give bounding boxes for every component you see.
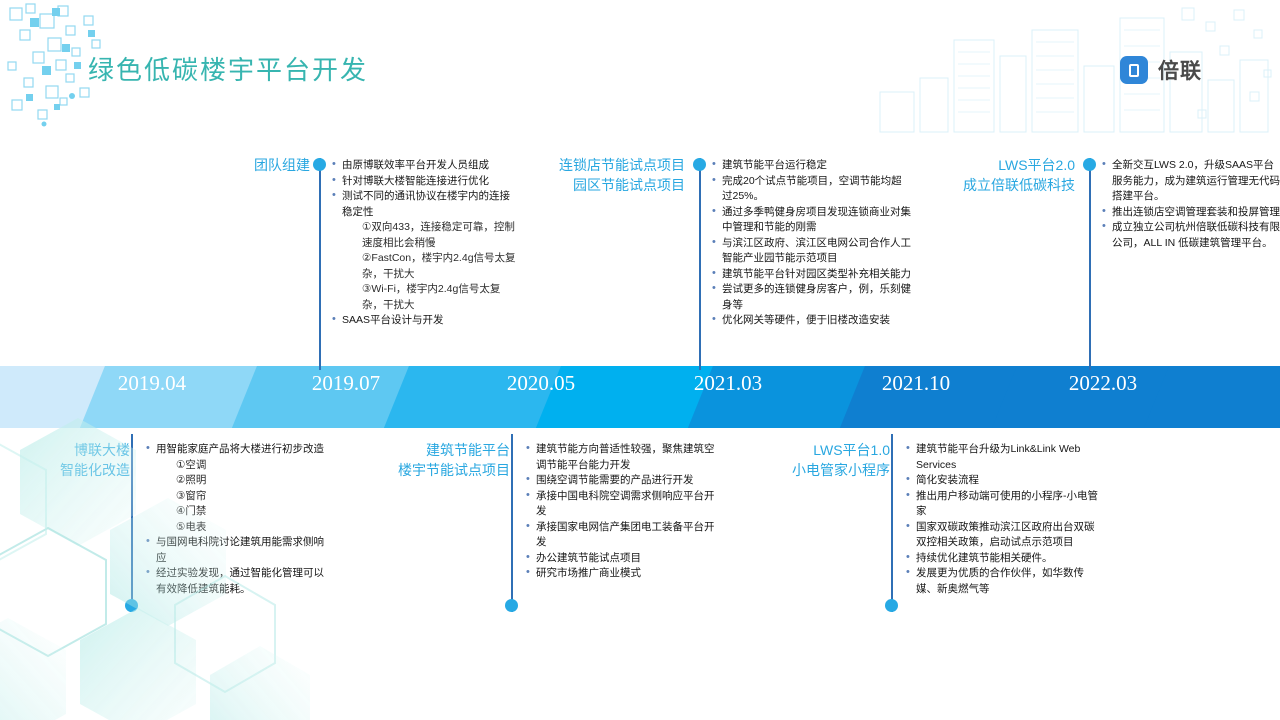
milestone-body: 建筑节能方向普适性较强，聚焦建筑空调节能平台能力开发围绕空调节能需要的产品进行开… <box>525 442 715 582</box>
milestone-sub-item: ③窗帘 <box>156 489 325 505</box>
milestone-bullet: 建筑节能方向普适性较强，聚焦建筑空调节能平台能力开发 <box>525 442 715 473</box>
milestone-bullet: 完成20个试点节能项目，空调节能均超过25%。 <box>711 174 911 205</box>
milestone-bullet: 国家双碳政策推动滨江区政府出台双碳双控相关政策，启动试点示范项目 <box>905 520 1100 551</box>
milestone-bullet: 承接中国电科院空调需求侧响应平台开发 <box>525 489 715 520</box>
milestone-bullet: 成立独立公司杭州倍联低碳科技有限公司，ALL IN 低碳建筑管理平台。 <box>1101 220 1280 251</box>
milestone-heading: LWS平台1.0小电管家小程序 <box>745 440 890 480</box>
milestone-bullet: 简化安装流程 <box>905 473 1100 489</box>
timeline-date-2020.05: 2020.05 <box>497 370 585 396</box>
milestone-heading-line: LWS平台2.0 <box>905 155 1075 175</box>
brand-name: 倍联 <box>1158 55 1202 85</box>
milestone-bullet: 推出用户移动端可使用的小程序-小电管家 <box>905 489 1100 520</box>
milestone-heading: 建筑节能平台楼宇节能试点项目 <box>350 440 510 480</box>
milestone-connector-line <box>699 158 701 370</box>
milestone-heading-line: 连锁店节能试点项目 <box>470 155 685 175</box>
milestone-connector <box>505 434 518 612</box>
milestone-bullet: 全新交互LWS 2.0，升级SAAS平台服务能力，成为建筑运行管理无代码搭建平台… <box>1101 158 1280 205</box>
milestone-bullet: 办公建筑节能试点项目 <box>525 551 715 567</box>
milestone-dot <box>505 599 518 612</box>
milestone-heading: 团队组建 <box>150 155 310 175</box>
milestone-heading-line: 小电管家小程序 <box>745 460 890 480</box>
milestone-connector-line <box>891 434 893 612</box>
milestone-dot <box>125 599 138 612</box>
milestone-heading: 连锁店节能试点项目园区节能试点项目 <box>470 155 685 195</box>
timeline-date-labels: 2019.042019.072020.052021.032021.102022.… <box>0 366 1280 428</box>
milestone-sub-item: ①双向433，连接稳定可靠，控制速度相比会稍慢 <box>342 220 516 251</box>
timeline-date-2021.03: 2021.03 <box>684 370 772 396</box>
milestone-connector-line <box>319 158 321 370</box>
milestone-bullet: 测试不同的通讯协议在楼宇内的连接稳定性①双向433，连接稳定可靠，控制速度相比会… <box>331 189 516 313</box>
milestone-connector <box>125 434 138 612</box>
milestone-connector <box>313 158 326 370</box>
milestone-sub-item: ①空调 <box>156 458 325 474</box>
milestone-dot <box>693 158 706 171</box>
milestone-sub-item: ④门禁 <box>156 504 325 520</box>
brand-logo: 倍联 <box>1120 55 1202 85</box>
milestone-bullet: 尝试更多的连锁健身房客户，例，乐刻健身等 <box>711 282 911 313</box>
milestone-connector <box>1083 158 1096 370</box>
milestone-heading: 博联大楼智能化改造 <box>0 440 130 480</box>
timeline-date-2022.03: 2022.03 <box>1059 370 1147 396</box>
milestone-list: 建筑节能平台升级为Link&Link Web Services简化安装流程推出用… <box>905 442 1100 597</box>
milestone-bullet: 推出连锁店空调管理套装和投屏管理 <box>1101 205 1280 221</box>
milestone-bullet: 经过实验发现，通过智能化管理可以有效降低建筑能耗。 <box>145 566 325 597</box>
milestone-bullet: 承接国家电网信产集团电工装备平台开发 <box>525 520 715 551</box>
milestone-bullet: 发展更为优质的合作伙伴，如华数传媒、新奥燃气等 <box>905 566 1100 597</box>
milestone-bullet: SAAS平台设计与开发 <box>331 313 516 329</box>
milestone-heading-line: 楼宇节能试点项目 <box>350 460 510 480</box>
milestone-bullet: 用智能家庭产品将大楼进行初步改造①空调②照明③窗帘④门禁⑤电表 <box>145 442 325 535</box>
milestone-heading-line: 成立倍联低碳科技 <box>905 175 1075 195</box>
milestone-body: 用智能家庭产品将大楼进行初步改造①空调②照明③窗帘④门禁⑤电表与国网电科院讨论建… <box>145 442 325 597</box>
milestone-bullet: 建筑节能平台针对园区类型补充相关能力 <box>711 267 911 283</box>
milestone-list: 建筑节能方向普适性较强，聚焦建筑空调节能平台能力开发围绕空调节能需要的产品进行开… <box>525 442 715 582</box>
milestone-heading-line: 园区节能试点项目 <box>470 175 685 195</box>
milestone-bullet: 研究市场推广商业模式 <box>525 566 715 582</box>
milestone-bullet: 围绕空调节能需要的产品进行开发 <box>525 473 715 489</box>
milestone-dot <box>885 599 898 612</box>
slide-header: 绿色低碳楼宇平台开发 倍联 <box>0 0 1280 130</box>
milestone-body: 建筑节能平台升级为Link&Link Web Services简化安装流程推出用… <box>905 442 1100 597</box>
milestone-heading: LWS平台2.0成立倍联低碳科技 <box>905 155 1075 195</box>
milestone-sub-item: ③Wi-Fi，楼宇内2.4g信号太复杂，干扰大 <box>342 282 516 313</box>
milestone-sub-item: ⑤电表 <box>156 520 325 536</box>
milestone-bullet: 与国网电科院讨论建筑用能需求侧响应 <box>145 535 325 566</box>
milestone-connector-line <box>1089 158 1091 370</box>
milestone-bullet: 与滨江区政府、滨江区电网公司合作人工智能产业园节能示范项目 <box>711 236 911 267</box>
milestone-heading-line: 博联大楼 <box>0 440 130 460</box>
milestone-dot <box>1083 158 1096 171</box>
milestone-heading-line: 团队组建 <box>150 155 310 175</box>
milestone-bullet: 优化网关等硬件，便于旧楼改造安装 <box>711 313 911 329</box>
page-title: 绿色低碳楼宇平台开发 <box>88 50 368 87</box>
milestone-list: 用智能家庭产品将大楼进行初步改造①空调②照明③窗帘④门禁⑤电表与国网电科院讨论建… <box>145 442 325 597</box>
milestone-bullet: 建筑节能平台升级为Link&Link Web Services <box>905 442 1100 473</box>
milestone-connector <box>693 158 706 370</box>
timeline-date-2021.10: 2021.10 <box>872 370 960 396</box>
milestone-dot <box>313 158 326 171</box>
milestone-bullet: 建筑节能平台运行稳定 <box>711 158 911 174</box>
milestone-body: 全新交互LWS 2.0，升级SAAS平台服务能力，成为建筑运行管理无代码搭建平台… <box>1101 158 1280 251</box>
milestone-list: 建筑节能平台运行稳定完成20个试点节能项目，空调节能均超过25%。通过多季鸭健身… <box>711 158 911 329</box>
milestone-body: 建筑节能平台运行稳定完成20个试点节能项目，空调节能均超过25%。通过多季鸭健身… <box>711 158 911 329</box>
timeline-date-2019.07: 2019.07 <box>302 370 390 396</box>
milestone-heading-line: 建筑节能平台 <box>350 440 510 460</box>
milestone-connector-line <box>511 434 513 612</box>
milestone-heading-line: 智能化改造 <box>0 460 130 480</box>
slide-root: 绿色低碳楼宇平台开发 倍联 2019.042019.072020.052021.… <box>0 0 1280 720</box>
milestone-connector-line <box>131 434 133 612</box>
square-logo-icon <box>1120 56 1148 84</box>
timeline-date-2019.04: 2019.04 <box>108 370 196 396</box>
milestone-heading-line: LWS平台1.0 <box>745 440 890 460</box>
milestone-list: 全新交互LWS 2.0，升级SAAS平台服务能力，成为建筑运行管理无代码搭建平台… <box>1101 158 1280 251</box>
milestone-bullet: 通过多季鸭健身房项目发现连锁商业对集中管理和节能的刚需 <box>711 205 911 236</box>
milestone-sub-item: ②照明 <box>156 473 325 489</box>
milestone-bullet: 持续优化建筑节能相关硬件。 <box>905 551 1100 567</box>
milestone-connector <box>885 434 898 612</box>
milestone-sub-item: ②FastCon，楼宇内2.4g信号太复杂，干扰大 <box>342 251 516 282</box>
